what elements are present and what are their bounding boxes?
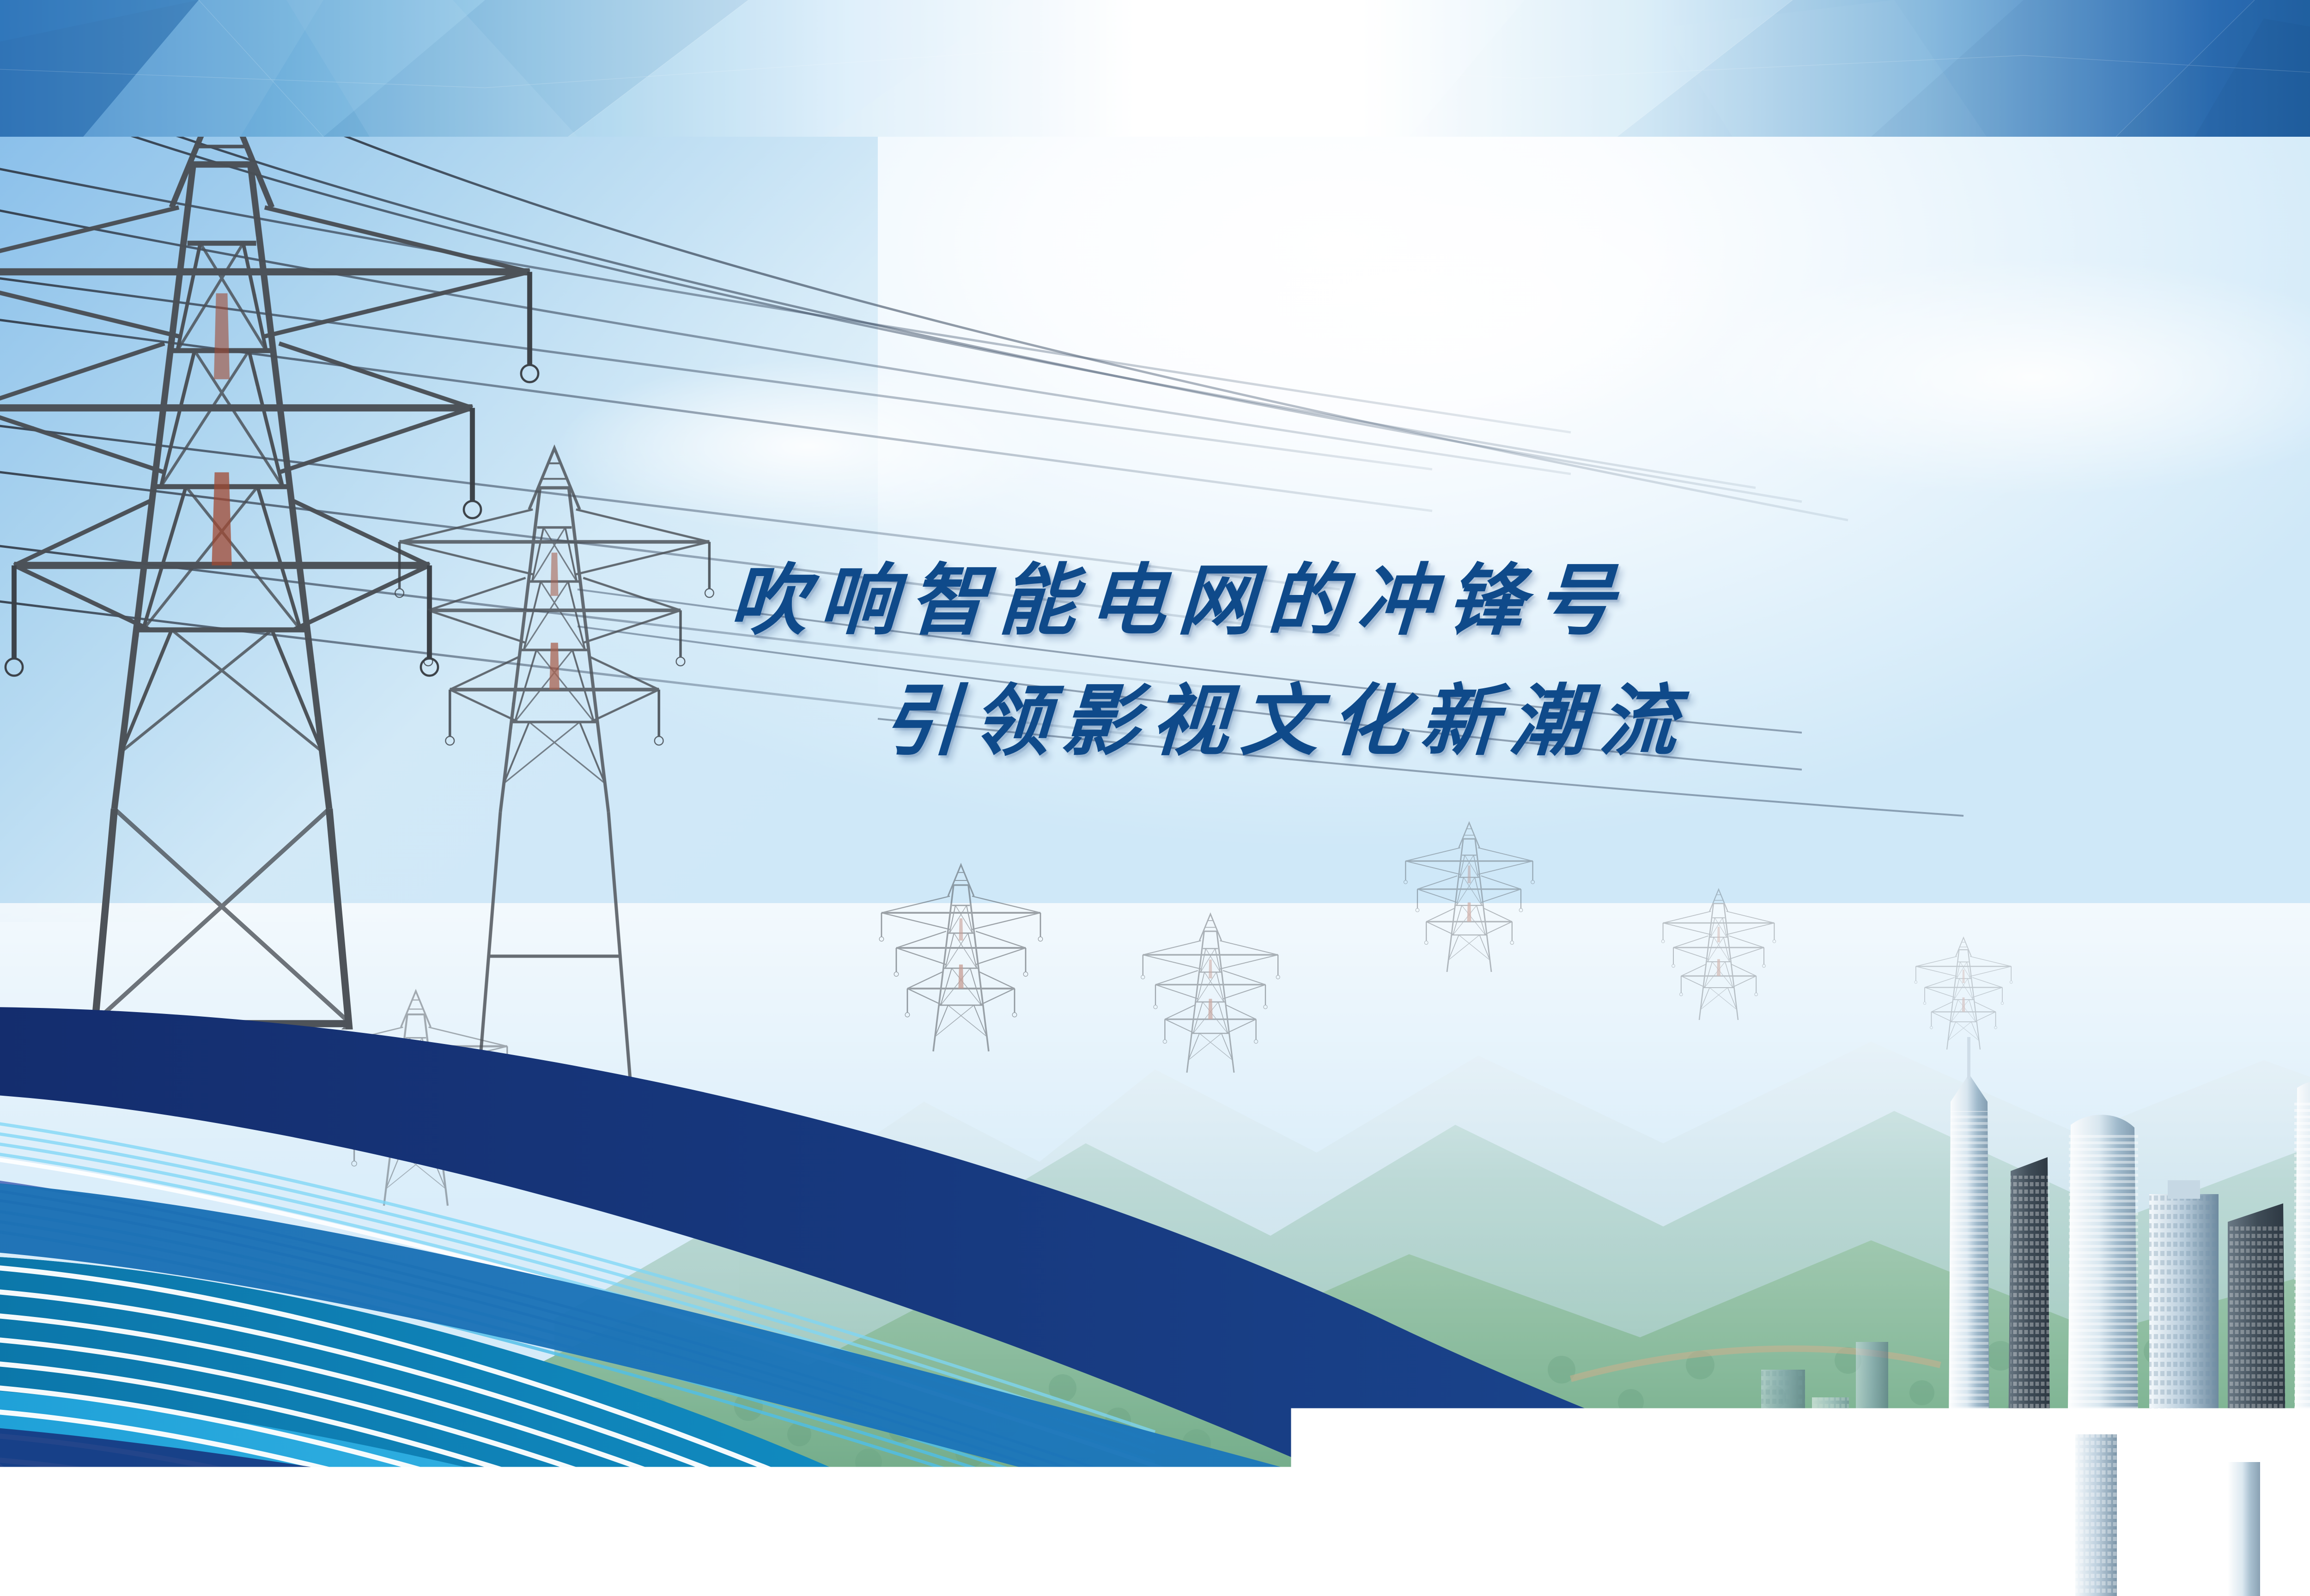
photo-scene [0,137,2310,1596]
banner-root: 吹响智能电网的冲锋号 引领影视文化新潮流 [0,0,2310,1596]
riverbank-trees [1729,1402,2310,1596]
cloud-3 [554,358,1063,534]
headline-line-1: 吹响智能电网的冲锋号 [727,545,2310,655]
cloud-1 [1063,164,1756,442]
headline-block: 吹响智能电网的冲锋号 引领影视文化新潮流 [730,545,2310,776]
headline-line-2: 引领影视文化新潮流 [727,666,2310,776]
trees-svg [1729,1402,2310,1596]
low-poly-header-band [0,0,2310,137]
cloud-2 [1663,257,2310,497]
poly-header-svg [0,0,2310,137]
